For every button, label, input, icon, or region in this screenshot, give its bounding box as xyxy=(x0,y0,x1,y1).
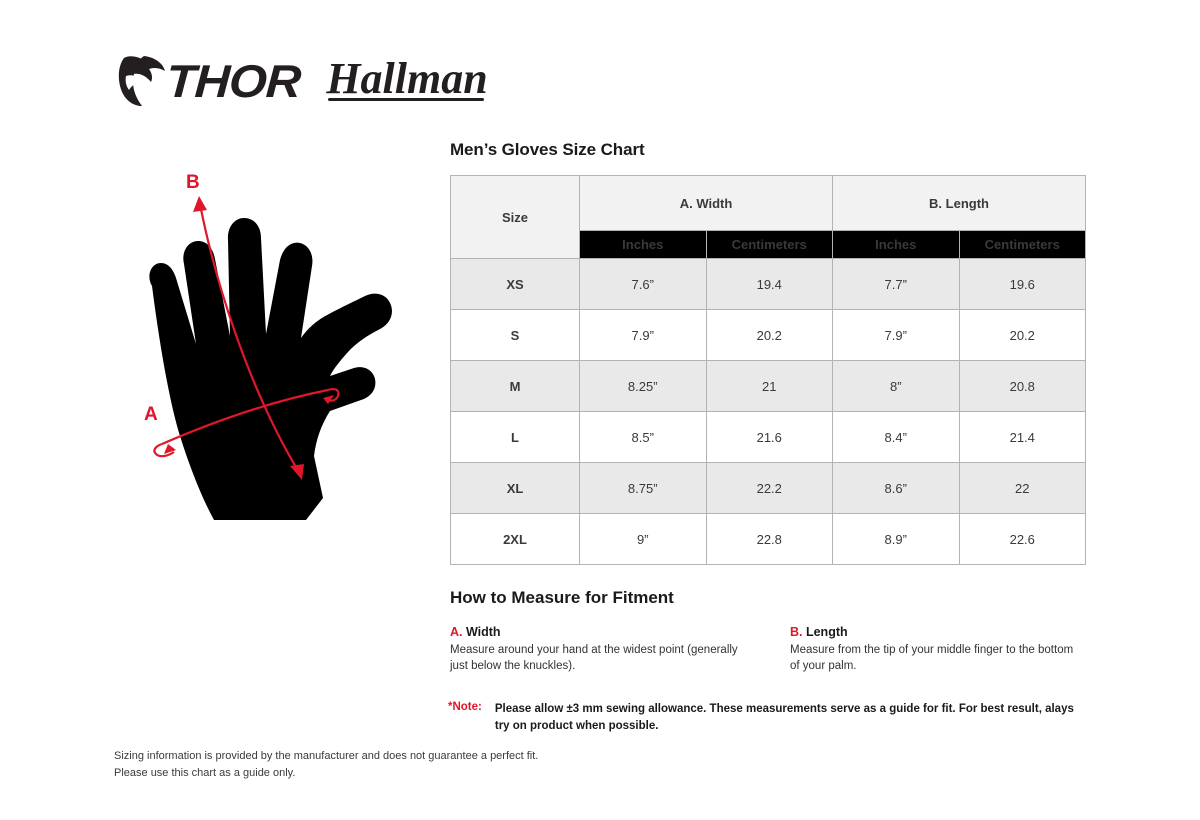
cell-length-inches: 8.6” xyxy=(833,463,960,514)
measure-item-width-label: A. Width xyxy=(450,625,745,639)
column-header-width-inches: Inches xyxy=(580,231,707,259)
table-row: L 8.5” 21.6 8.4” 21.4 xyxy=(451,412,1086,463)
cell-size: XL xyxy=(451,463,580,514)
measure-item-length-name: Length xyxy=(803,625,848,639)
footer-disclaimer: Sizing information is provided by the ma… xyxy=(114,748,538,782)
cell-width-inches: 8.5” xyxy=(580,412,707,463)
cell-length-inches: 8.9” xyxy=(833,514,960,565)
measure-item-width-letter: A. xyxy=(450,625,463,639)
cell-width-inches: 8.75” xyxy=(580,463,707,514)
how-to-measure-heading: How to Measure for Fitment xyxy=(450,588,1090,608)
hallman-underline-swash xyxy=(328,98,483,101)
footer-line-2: Please use this chart as a guide only. xyxy=(114,765,538,782)
cell-length-inches: 8.4” xyxy=(833,412,960,463)
cell-length-centimeters: 22 xyxy=(959,463,1086,514)
thor-wordmark: THOR xyxy=(165,58,301,104)
measure-item-width: A. Width Measure around your hand at the… xyxy=(450,625,745,675)
size-chart-table: Size A. Width B. Length Inches Centimete… xyxy=(450,175,1086,565)
cell-size: XS xyxy=(451,259,580,310)
thor-logo: THOR xyxy=(116,54,296,108)
cell-length-inches: 8” xyxy=(833,361,960,412)
hand-silhouette-shape xyxy=(149,218,392,520)
cell-width-inches: 8.25” xyxy=(580,361,707,412)
cell-length-inches: 7.7” xyxy=(833,259,960,310)
hallman-logo: Hallman xyxy=(326,59,487,103)
diagram-label-b: B xyxy=(186,172,200,193)
how-to-measure-columns: A. Width Measure around your hand at the… xyxy=(450,625,1090,675)
table-body: XS 7.6” 19.4 7.7” 19.6 S 7.9” 20.2 7.9” … xyxy=(451,259,1086,565)
column-header-length-centimeters: Centimeters xyxy=(959,231,1086,259)
size-chart-table-container: Size A. Width B. Length Inches Centimete… xyxy=(450,175,1086,565)
hand-silhouette-svg: B A xyxy=(118,168,428,548)
cell-width-centimeters: 19.4 xyxy=(706,259,833,310)
cell-width-inches: 7.6” xyxy=(580,259,707,310)
cell-length-centimeters: 20.2 xyxy=(959,310,1086,361)
measure-arrow-b-tip-top xyxy=(193,196,207,212)
note-block: *Note: Please allow ±3 mm sewing allowan… xyxy=(448,701,1088,734)
diagram-label-a: A xyxy=(144,404,158,425)
column-header-size: Size xyxy=(451,176,580,259)
glove-measurement-diagram: B A xyxy=(118,168,428,548)
column-header-length-inches: Inches xyxy=(833,231,960,259)
measure-item-length-description: Measure from the tip of your middle fing… xyxy=(790,642,1085,675)
cell-size: S xyxy=(451,310,580,361)
note-text: Please allow ±3 mm sewing allowance. The… xyxy=(495,701,1088,734)
table-header-row-groups: Size A. Width B. Length xyxy=(451,176,1086,231)
cell-width-centimeters: 21 xyxy=(706,361,833,412)
measure-item-length-label: B. Length xyxy=(790,625,1085,639)
footer-line-1: Sizing information is provided by the ma… xyxy=(114,748,538,765)
column-header-width-centimeters: Centimeters xyxy=(706,231,833,259)
measure-item-width-name: Width xyxy=(463,625,501,639)
cell-length-centimeters: 19.6 xyxy=(959,259,1086,310)
cell-width-centimeters: 22.2 xyxy=(706,463,833,514)
table-row: XS 7.6” 19.4 7.7” 19.6 xyxy=(451,259,1086,310)
measure-item-length: B. Length Measure from the tip of your m… xyxy=(790,625,1085,675)
column-header-group-width: A. Width xyxy=(580,176,833,231)
cell-width-centimeters: 20.2 xyxy=(706,310,833,361)
cell-width-inches: 7.9” xyxy=(580,310,707,361)
note-label: *Note: xyxy=(448,701,482,734)
table-head: Size A. Width B. Length Inches Centimete… xyxy=(451,176,1086,259)
cell-size: 2XL xyxy=(451,514,580,565)
brand-logo-bar: THOR Hallman xyxy=(116,50,488,112)
cell-length-centimeters: 21.4 xyxy=(959,412,1086,463)
cell-size: L xyxy=(451,412,580,463)
page-title: Men’s Gloves Size Chart xyxy=(450,140,645,160)
cell-size: M xyxy=(451,361,580,412)
table-row: XL 8.75” 22.2 8.6” 22 xyxy=(451,463,1086,514)
table-row: S 7.9” 20.2 7.9” 20.2 xyxy=(451,310,1086,361)
cell-length-inches: 7.9” xyxy=(833,310,960,361)
thor-helmet-icon xyxy=(116,54,168,108)
cell-width-inches: 9” xyxy=(580,514,707,565)
column-header-group-length: B. Length xyxy=(833,176,1086,231)
cell-length-centimeters: 22.6 xyxy=(959,514,1086,565)
table-row: 2XL 9” 22.8 8.9” 22.6 xyxy=(451,514,1086,565)
cell-length-centimeters: 20.8 xyxy=(959,361,1086,412)
how-to-measure-section: How to Measure for Fitment A. Width Meas… xyxy=(450,588,1090,675)
table-row: M 8.25” 21 8” 20.8 xyxy=(451,361,1086,412)
measure-item-width-description: Measure around your hand at the widest p… xyxy=(450,642,745,675)
cell-width-centimeters: 21.6 xyxy=(706,412,833,463)
cell-width-centimeters: 22.8 xyxy=(706,514,833,565)
hallman-wordmark: Hallman xyxy=(326,57,487,101)
measure-item-length-letter: B. xyxy=(790,625,803,639)
